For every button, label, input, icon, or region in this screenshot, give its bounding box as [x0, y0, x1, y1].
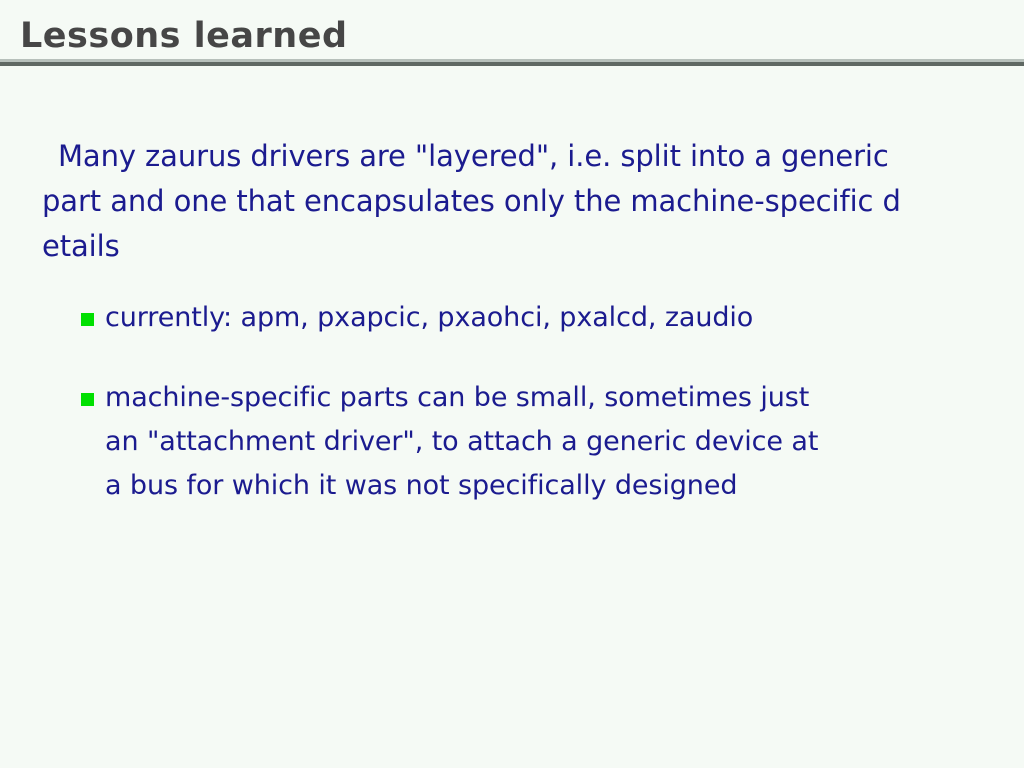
list-item: currently: apm, pxapcic, pxaohci, pxalcd…: [0, 296, 1024, 340]
presentation-slide: Lessons learned Many zaurus drivers are …: [0, 0, 1024, 768]
slide-body: Many zaurus drivers are "layered", i.e. …: [0, 78, 1024, 768]
bullet-list: currently: apm, pxapcic, pxaohci, pxalcd…: [0, 296, 1024, 544]
list-item-text: machine-specific parts can be small, som…: [105, 376, 1024, 508]
bullet-2-line-1: machine-specific parts can be small, som…: [105, 376, 1024, 420]
page-title: Lessons learned: [20, 14, 1004, 58]
lead-paragraph: Many zaurus drivers are "layered", i.e. …: [42, 134, 982, 269]
lead-paragraph-line-2: part and one that encapsulates only the …: [42, 179, 982, 224]
lead-paragraph-line-3: etails: [42, 224, 982, 269]
bullet-1-line-1: currently: apm, pxapcic, pxaohci, pxalcd…: [105, 296, 1024, 340]
square-bullet-icon: [81, 393, 94, 406]
bullet-2-line-2: an "attachment driver", to attach a gene…: [105, 420, 1024, 464]
square-bullet-icon: [81, 313, 94, 326]
list-item: machine-specific parts can be small, som…: [0, 376, 1024, 508]
list-item-text: currently: apm, pxapcic, pxaohci, pxalcd…: [105, 296, 1024, 340]
divider-shadow-line: [0, 62, 1024, 66]
lead-paragraph-line-1: Many zaurus drivers are "layered", i.e. …: [42, 134, 982, 179]
bullet-2-line-3: a bus for which it was not specifically …: [105, 464, 1024, 508]
title-divider: [0, 59, 1024, 66]
